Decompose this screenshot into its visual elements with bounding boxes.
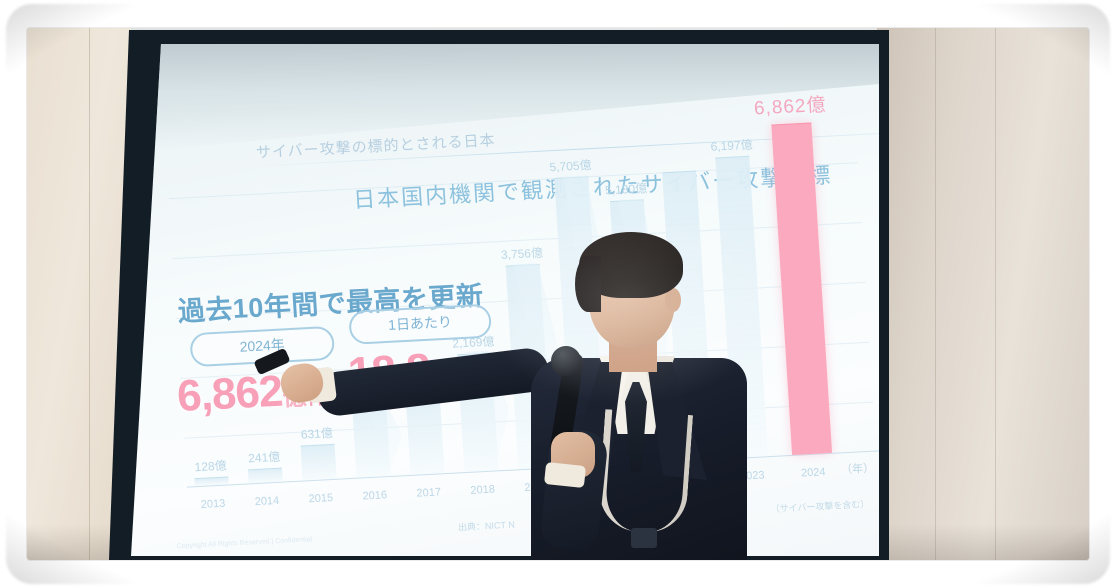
photo-vignette (6, 4, 1110, 584)
photo-frame: サイバー攻撃の標的とされる日本 日本国内機関で観測されたサイバー攻撃指標 (0, 0, 1116, 588)
